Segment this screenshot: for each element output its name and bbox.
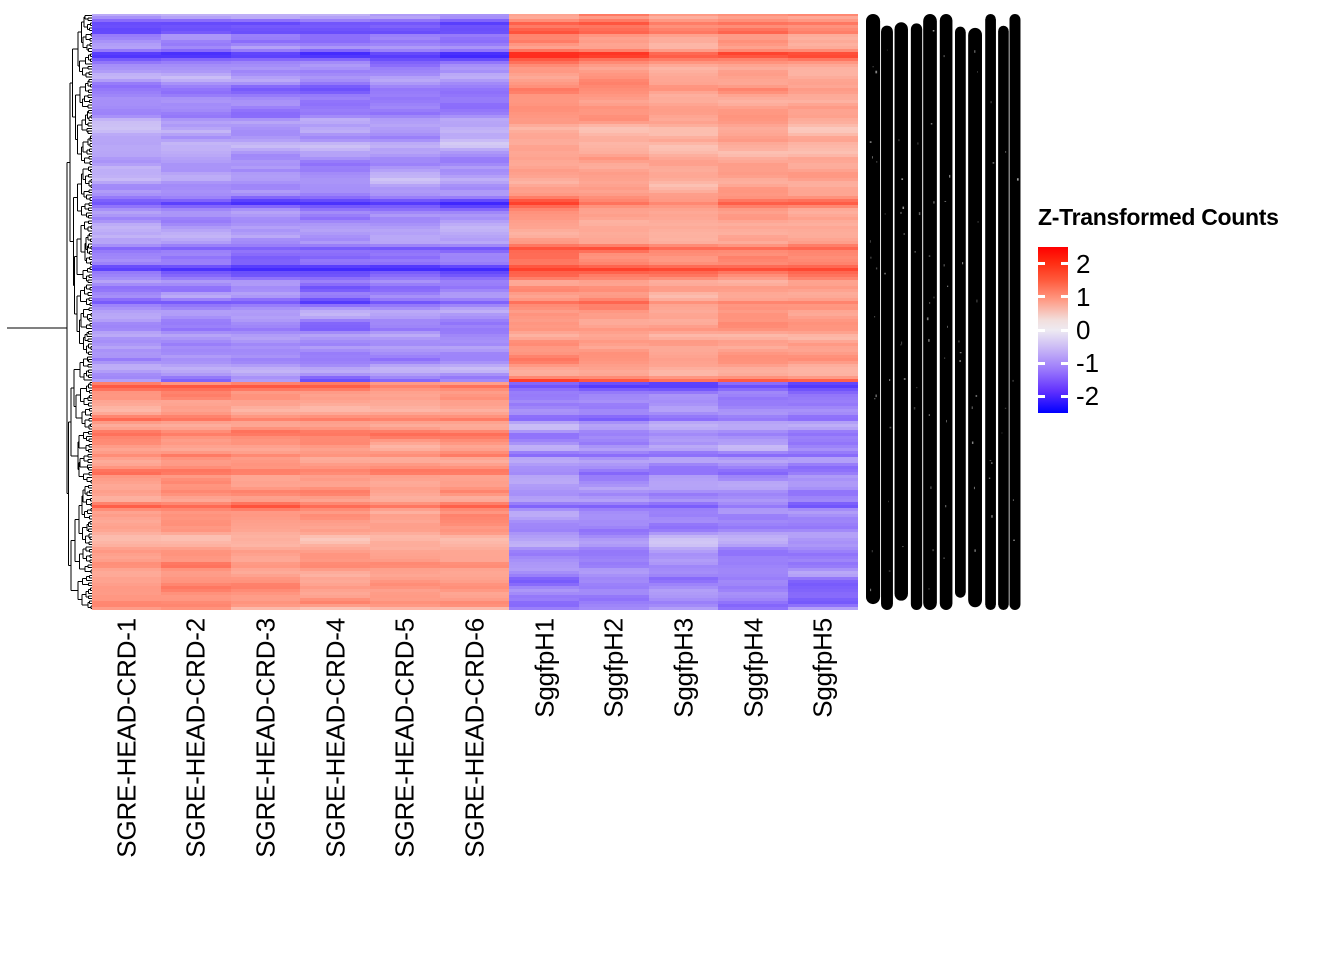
column-label-1: SGRE-HEAD-CRD-1 [92,610,162,940]
row-label-speckle [1005,408,1006,409]
row-label-speckle [974,50,975,53]
legend-tick-mark [1038,395,1045,398]
row-label-speckle [928,589,930,590]
column-label-text: SGRE-HEAD-CRD-1 [111,618,142,858]
row-label-speckle [915,251,916,252]
row-label-speckle [876,267,877,269]
row-label-bar-body [955,32,966,592]
row-label-speckle [972,406,973,409]
legend-tick-mark [1061,295,1068,298]
row-label-bar-body [998,31,1008,605]
row-label-speckle [870,240,871,243]
row-label-speckle [972,442,973,444]
legend-tick-mark [1061,395,1068,398]
legend-tick-mark [1038,329,1045,332]
row-label-speckle [933,30,935,31]
row-label-speckle [947,286,948,287]
row-label-speckle [901,342,902,345]
row-dendrogram-svg [6,14,92,610]
row-label-speckle [888,501,889,502]
row-label-speckle [929,302,930,304]
column-label-7: SggfpH1 [510,610,580,940]
legend-tick-label: 2 [1076,251,1090,277]
row-label-speckle [993,162,995,164]
row-dendrogram [6,14,92,610]
row-label-speckle [944,55,945,57]
row-label-speckle [944,358,945,359]
column-label-text: SggfpH1 [529,618,560,718]
row-label-speckle [904,378,906,380]
heatmap-matrix [92,14,858,610]
row-label-speckle [874,316,875,317]
heatmap-canvas [92,14,858,610]
column-labels: SGRE-HEAD-CRD-1SGRE-HEAD-CRD-2SGRE-HEAD-… [92,610,858,940]
legend-tick-mark [1061,362,1068,365]
row-label-speckle [1012,380,1014,382]
row-label-speckle [991,101,992,103]
row-label-bar-body [895,29,908,594]
legend-tick-label: 0 [1076,317,1090,343]
row-label-speckle [875,71,877,74]
row-label-speckle [903,234,905,235]
row-label-speckle [959,360,960,362]
row-label-speckle [960,352,962,353]
legend-tick-label: -2 [1076,383,1099,409]
row-label-speckle [889,379,890,381]
row-label-speckle [900,344,901,345]
legend-tick-label: 1 [1076,284,1090,310]
row-label-speckle [977,71,978,72]
column-label-8: SggfpH2 [579,610,649,940]
row-label-speckle [889,570,891,571]
column-label-4: SGRE-HEAD-CRD-4 [301,610,371,940]
row-label-speckle [976,300,977,303]
row-label-speckle [990,460,992,461]
row-label-speckle [901,178,903,180]
row-label-speckle [974,549,975,551]
column-label-2: SGRE-HEAD-CRD-2 [162,610,232,940]
row-label-speckle [916,387,917,388]
column-label-text: SGRE-HEAD-CRD-5 [390,618,421,858]
column-label-9: SggfpH3 [649,610,719,940]
row-label-speckle [903,546,904,547]
heatmap-figure: SGRE-HEAD-CRD-1SGRE-HEAD-CRD-2SGRE-HEAD-… [0,0,1344,960]
row-label-speckle [898,139,899,141]
row-label-bar-body [911,29,922,604]
row-label-bar-body [1010,19,1021,604]
row-label-speckle [962,262,963,264]
row-label-speckle [974,487,975,489]
column-label-text: SGRE-HEAD-CRD-4 [320,618,351,858]
legend-tick-label: -1 [1076,350,1099,376]
row-label-speckle [873,66,874,67]
row-label-speckle [944,557,945,558]
row-label-speckle [947,326,948,328]
row-label-speckle [1013,499,1014,501]
row-label-speckle [1017,178,1019,180]
row-label-speckle [944,264,945,266]
row-label-speckle [949,175,950,178]
row-label-speckle [887,50,888,51]
row-label-bar-body [866,21,880,597]
column-label-text: SGRE-HEAD-CRD-6 [459,618,490,858]
row-label-bar-body [923,21,936,604]
legend-tick-mark [1038,295,1045,298]
row-label-speckle [932,549,934,551]
row-label-speckle [1002,432,1003,433]
row-label-speckle [884,273,885,275]
row-label-speckle [989,478,990,479]
row-label-speckle [991,515,993,518]
row-label-bar-body [968,35,982,601]
row-label-speckle [1005,151,1006,152]
row-label-speckle [944,201,946,202]
row-label-speckle [959,340,960,342]
row-label-speckle [933,297,934,299]
row-label-speckle [890,427,892,429]
column-label-5: SGRE-HEAD-CRD-5 [371,610,441,940]
row-label-speckle [945,505,946,507]
row-label-speckle [870,257,872,259]
legend-tick-mark [1061,329,1068,332]
row-label-speckle [931,123,933,124]
row-label-speckle [930,486,931,489]
row-label-speckle [900,212,902,214]
column-label-3: SGRE-HEAD-CRD-3 [231,610,301,940]
row-label-speckle [872,550,873,552]
legend-title: Z-Transformed Counts [1038,204,1279,231]
row-label-speckle [870,589,871,591]
row-label-speckle [933,201,935,203]
row-labels-svg [864,14,1024,610]
row-label-bar-body [985,19,996,605]
row-label-speckle [927,317,929,320]
row-label-speckle [928,339,929,342]
row-label-speckle [1013,540,1015,541]
row-label-speckle [978,221,979,223]
row-labels-block [864,14,1024,610]
column-label-text: SggfpH2 [599,618,630,718]
legend-tick-mark [1061,262,1068,265]
row-label-speckle [874,398,875,399]
column-label-text: SGRE-HEAD-CRD-2 [181,618,212,858]
row-label-speckle [876,395,877,398]
row-label-speckle [976,395,978,397]
row-label-speckle [903,207,905,209]
legend-tick-mark [1038,262,1045,265]
row-label-bar-body [881,31,893,604]
row-label-speckle [870,141,872,143]
column-label-text: SGRE-HEAD-CRD-3 [251,618,282,858]
legend-colorbar-wrap: 210-1-2 [1038,247,1068,413]
column-label-6: SGRE-HEAD-CRD-6 [440,610,510,940]
row-label-speckle [917,142,918,144]
row-label-speckle [946,420,947,422]
column-label-text: SggfpH5 [808,618,839,718]
row-label-speckle [876,161,877,162]
row-label-speckle [929,256,931,257]
column-label-10: SggfpH4 [719,610,789,940]
column-label-text: SggfpH4 [738,618,769,718]
row-label-speckle [919,212,920,215]
row-label-bar-body [940,20,952,604]
row-label-speckle [929,414,930,416]
column-label-text: SggfpH3 [668,618,699,718]
row-label-speckle [872,156,873,158]
legend-tick-mark [1038,362,1045,365]
row-label-speckle [914,407,916,410]
column-label-11: SggfpH5 [788,610,858,940]
row-label-speckle [991,462,992,464]
row-label-speckle [885,213,886,214]
